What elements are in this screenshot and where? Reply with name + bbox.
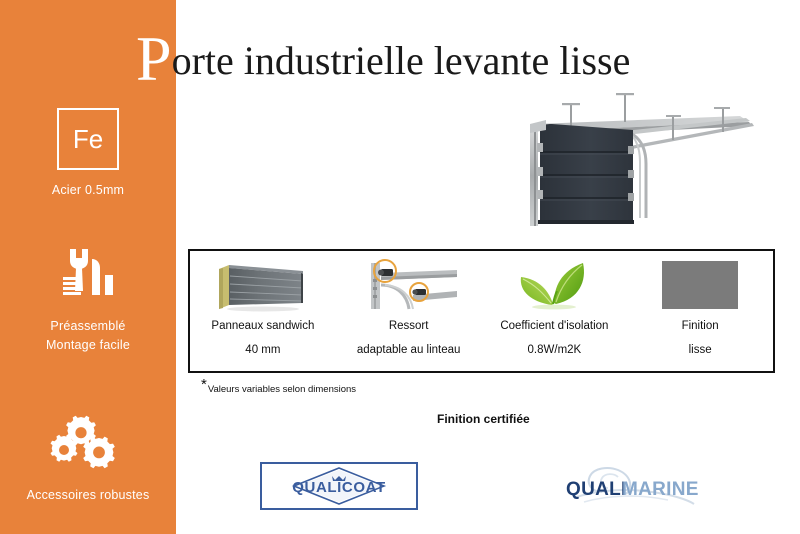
feature-cell-panel: Panneaux sandwich 40 mm bbox=[190, 251, 336, 371]
page-title-rest: orte industrielle levante lisse bbox=[172, 38, 631, 83]
sandwich-panel-image bbox=[211, 256, 315, 314]
sidebar-block-steel: Fe Acier 0.5mm bbox=[0, 108, 176, 200]
sidebar-block-accessories: Accessoires robustes bbox=[0, 412, 176, 505]
qualicoat-logo: QUALICOAT bbox=[260, 462, 418, 510]
feature-title-insulation: Coefficient d'isolation bbox=[500, 319, 608, 333]
wrench-assembly-icon bbox=[0, 243, 176, 305]
feature-value-panel: 40 mm bbox=[245, 343, 280, 357]
page-title-initial: P bbox=[136, 23, 172, 94]
sidebar-label-easy-mounting: Montage facile bbox=[0, 336, 176, 355]
fe-element-box-icon: Fe bbox=[57, 108, 119, 170]
qualimarine-wordmark-primary: QUALI bbox=[566, 479, 627, 500]
qualimarine-logo: QUALI MARINE bbox=[556, 462, 706, 510]
footnote-text: Valeurs variables selon dimensions bbox=[208, 384, 356, 395]
feature-value-insulation: 0.8W/m2K bbox=[528, 343, 582, 357]
footnote-star: * bbox=[201, 376, 207, 393]
finish-swatch-icon bbox=[658, 256, 742, 314]
gears-icon bbox=[0, 412, 176, 474]
feature-cell-insulation: Coefficient d'isolation 0.8W/m2K bbox=[482, 251, 628, 371]
product-datasheet-page: Fe Acier 0.5mm bbox=[0, 0, 800, 534]
spring-mechanism-image bbox=[357, 256, 461, 314]
feature-specs-box: Panneaux sandwich 40 mm bbox=[188, 249, 775, 373]
feature-value-spring: adaptable au linteau bbox=[357, 343, 461, 357]
feature-title-spring: Ressort bbox=[389, 319, 429, 333]
sidebar-label-preassembled: Préassemblé bbox=[0, 317, 176, 336]
qualicoat-wordmark: QUALICOAT bbox=[292, 479, 385, 496]
industrial-sectional-door-photo bbox=[500, 86, 792, 230]
feature-cell-spring: Ressort adaptable au linteau bbox=[336, 251, 482, 371]
sidebar-label-accessories: Accessoires robustes bbox=[0, 486, 176, 505]
fe-symbol-text: Fe bbox=[73, 126, 103, 152]
green-leaves-icon bbox=[509, 256, 599, 314]
feature-title-panel: Panneaux sandwich bbox=[211, 319, 314, 333]
feature-title-finish: Finition bbox=[682, 319, 719, 333]
feature-cell-finish: Finition lisse bbox=[627, 251, 773, 371]
sidebar-block-preassembled: Préassemblé Montage facile bbox=[0, 243, 176, 355]
certified-finish-label: Finition certifiée bbox=[437, 412, 530, 426]
qualimarine-wordmark-secondary: MARINE bbox=[622, 479, 699, 500]
page-title: Porte industrielle levante lisse bbox=[136, 28, 630, 90]
footnote: *Valeurs variables selon dimensions bbox=[201, 381, 356, 395]
sidebar-label-steel: Acier 0.5mm bbox=[0, 181, 176, 200]
feature-value-finish: lisse bbox=[689, 343, 712, 357]
